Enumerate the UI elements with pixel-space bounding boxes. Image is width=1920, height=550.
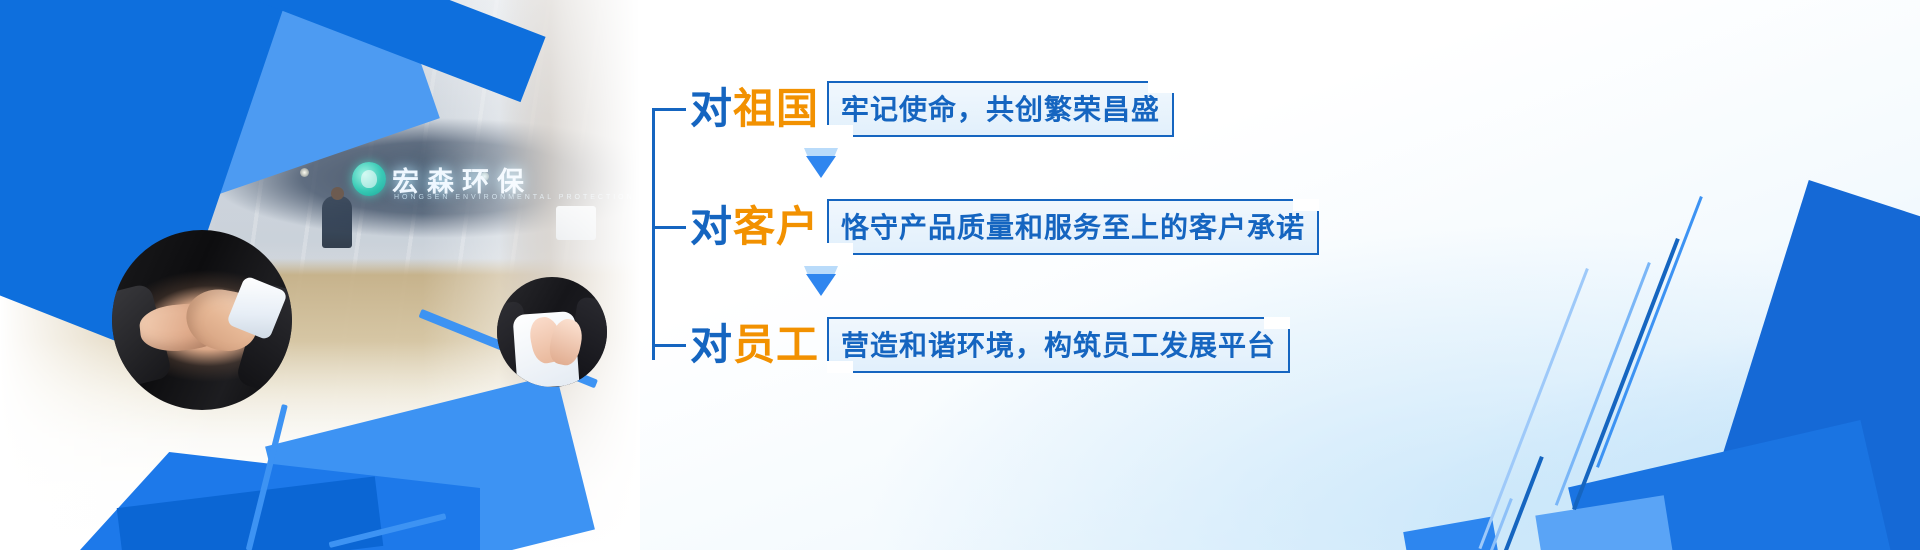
value-heading-country: 对祖国 xyxy=(690,88,819,130)
value-slogan-customer: 恪守产品质量和服务至上的客户承诺 xyxy=(827,199,1319,255)
arrow-down-icon xyxy=(804,148,838,178)
value-slogan-country: 牢记使命，共创繁荣昌盛 xyxy=(827,81,1174,137)
row-tick-mark xyxy=(652,108,686,111)
arrow-bottom-segment xyxy=(806,274,836,296)
company-values-banner: 宏森环保 HONGSEN ENVIRONMENTAL PROTECTION xyxy=(0,0,1920,550)
arrow-bottom-segment xyxy=(806,156,836,178)
value-target: 祖国 xyxy=(733,85,819,132)
value-slogan-employee: 营造和谐环境，构筑员工发展平台 xyxy=(827,317,1290,373)
value-prefix: 对 xyxy=(690,321,733,368)
value-heading-employee: 对员工 xyxy=(690,324,819,366)
value-row-country: 对祖国 牢记使命，共创繁荣昌盛 xyxy=(652,82,1174,136)
value-heading-customer: 对客户 xyxy=(690,206,819,248)
applause-photo xyxy=(497,277,607,387)
value-row-employee: 对员工 营造和谐环境，构筑员工发展平台 xyxy=(652,318,1290,372)
handshake-photo xyxy=(112,230,292,410)
row-tick-mark xyxy=(652,344,686,347)
value-prefix: 对 xyxy=(690,203,733,250)
arrow-down-icon xyxy=(804,266,838,296)
value-row-customer: 对客户 恪守产品质量和服务至上的客户承诺 xyxy=(652,200,1319,254)
row-tick-mark xyxy=(652,226,686,229)
value-target: 客户 xyxy=(733,203,819,250)
values-list: 对祖国 牢记使命，共创繁荣昌盛 对客户 恪守产品质量和服务至上的客户承诺 对员工… xyxy=(652,72,1352,392)
value-prefix: 对 xyxy=(690,85,733,132)
value-target: 员工 xyxy=(733,321,819,368)
